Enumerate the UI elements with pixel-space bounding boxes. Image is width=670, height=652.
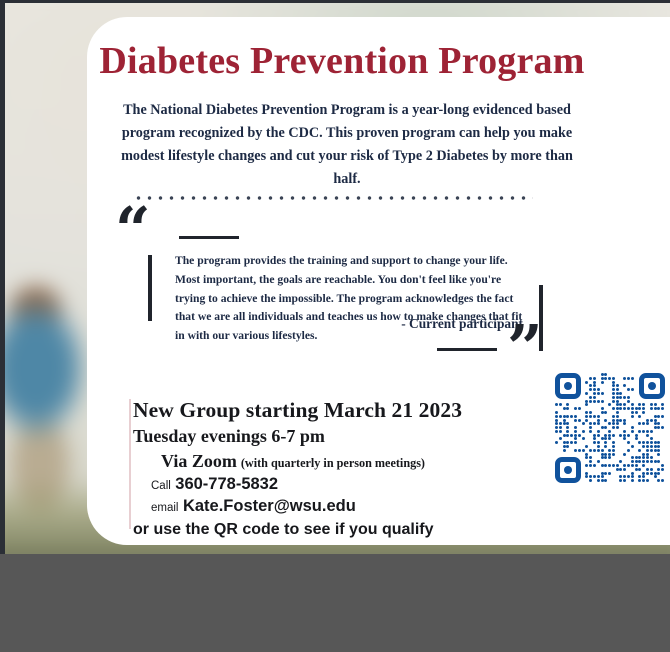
details-block: New Group starting March 21 2023 Tuesday… — [133, 398, 563, 540]
details-accent-bar — [129, 399, 131, 529]
flyer-content-card: Diabetes Prevention Program The National… — [87, 17, 670, 545]
phone-number[interactable]: 360-778-5832 — [175, 475, 278, 493]
page-title: Diabetes Prevention Program — [87, 41, 597, 83]
zoom-line: Via Zoom (with quarterly in person meeti… — [133, 451, 563, 473]
quote-left-bar — [148, 255, 152, 321]
close-quote-icon: ” — [507, 317, 543, 379]
browser-viewport: Diabetes Prevention Program The National… — [0, 0, 670, 652]
email-line: email Kate.Foster@wsu.edu — [133, 497, 563, 517]
group-start-heading: New Group starting March 21 2023 — [133, 398, 563, 423]
open-quote-icon: “ — [115, 199, 151, 261]
zoom-label: Via Zoom — [161, 451, 237, 471]
call-label: Call — [151, 480, 171, 492]
qr-code-canvas — [555, 373, 665, 483]
quote-close-rule — [437, 348, 497, 351]
flyer-image: Diabetes Prevention Program The National… — [0, 0, 670, 554]
testimonial-attribution: - Current participant — [175, 316, 523, 332]
meeting-time: Tuesday evenings 6-7 pm — [133, 426, 563, 447]
dotted-divider — [133, 196, 533, 200]
quote-open-rule — [179, 236, 239, 239]
email-address[interactable]: Kate.Foster@wsu.edu — [183, 497, 356, 515]
email-label: email — [151, 502, 178, 514]
intro-paragraph: The National Diabetes Prevention Program… — [109, 99, 585, 191]
qr-call-to-action: or use the QR code to see if you qualify — [133, 521, 563, 540]
phone-line: Call 360-778-5832 — [133, 475, 563, 495]
zoom-note: (with quarterly in person meetings) — [241, 456, 425, 470]
qr-code[interactable] — [551, 369, 669, 487]
